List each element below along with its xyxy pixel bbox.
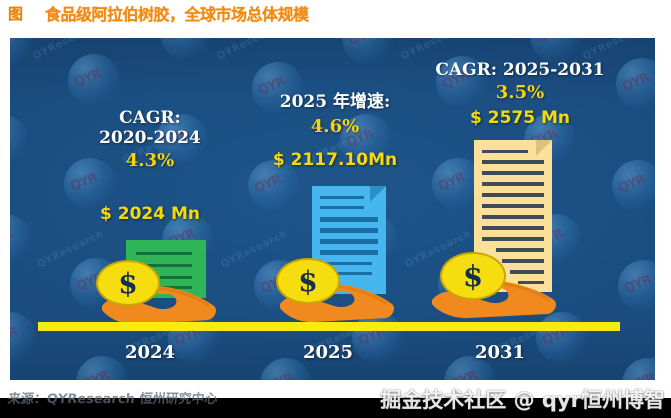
year-label-2024: 2024	[90, 342, 210, 363]
watermark-globe-icon	[612, 160, 655, 212]
year-label-2031: 2031	[440, 342, 560, 363]
coin-symbol: $	[463, 259, 483, 293]
amount-2025: $ 2117.10Mn	[250, 150, 420, 170]
cagr-block-2025: 2025 年增速: 4.6%	[255, 92, 415, 137]
baseline-bar	[38, 322, 620, 331]
amount-2024: $ 2024 Mn	[80, 204, 220, 224]
watermark-globe-icon	[10, 114, 28, 166]
watermark-globe-icon	[68, 54, 120, 106]
watermark-globe-icon	[616, 58, 655, 110]
watermark-globe-icon	[10, 214, 32, 266]
watermark-text: QYResearch	[581, 38, 651, 62]
cagr-value-2025: 4.6%	[255, 116, 415, 137]
watermark-text: QYResearch	[35, 229, 105, 271]
watermark-globe-icon	[10, 312, 36, 364]
hand-icon	[278, 186, 398, 330]
cagr-title-2024: CAGR:	[80, 108, 220, 128]
watermark-globe-icon	[10, 38, 34, 66]
hand-icon	[430, 140, 570, 330]
dollar-coin-icon: $	[276, 258, 340, 304]
figure-label: 图	[8, 3, 23, 24]
cagr-value-2031: 3.5%	[420, 82, 620, 103]
dollar-coin-icon: $	[96, 260, 160, 306]
document-blue-icon: $	[278, 186, 398, 330]
watermark-text: QYResearch	[399, 38, 469, 62]
cagr-period-2024: 2020-2024	[80, 128, 220, 148]
watermark-text: QYResearch	[215, 38, 285, 62]
money-note-icon: $	[100, 240, 220, 330]
watermark-globe-icon	[342, 38, 394, 64]
banner: 图 食品级阿拉伯树胶，全球市场总体规模	[0, 0, 671, 26]
banner-title: 食品级阿拉伯树胶，全球市场总体规模	[45, 1, 309, 25]
cagr-title-2025: 2025 年增速:	[255, 92, 415, 112]
cagr-title-2031: CAGR: 2025-2031	[420, 60, 620, 80]
cagr-value-2024: 4.3%	[80, 150, 220, 171]
year-label-2025: 2025	[268, 342, 388, 363]
coin-symbol: $	[298, 265, 317, 298]
watermark-globe-icon	[622, 358, 655, 380]
source-credit: 来源：QYResearch 恒州研究中心	[7, 388, 219, 407]
watermark-globe-icon	[618, 260, 655, 312]
cagr-block-2024: CAGR: 2020-2024 4.3%	[80, 108, 220, 171]
document-cream-icon: $	[430, 140, 570, 330]
watermark-globe-icon	[530, 38, 582, 62]
community-watermark: 掘金技术社区 @ qyr恒州博智	[380, 384, 665, 414]
cagr-block-2031: CAGR: 2025-2031 3.5%	[420, 60, 620, 103]
amount-block-2024: $ 2024 Mn	[80, 204, 220, 224]
dollar-coin-icon: $	[440, 252, 506, 300]
watermark-globe-icon	[160, 38, 212, 60]
amount-block-2031: $ 2575 Mn	[420, 108, 620, 128]
coin-symbol: $	[118, 267, 137, 300]
amount-2031: $ 2575 Mn	[420, 108, 620, 128]
infographic-stage: 图 食品级阿拉伯树胶，全球市场总体规模	[0, 0, 671, 418]
amount-block-2025: $ 2117.10Mn	[250, 150, 420, 170]
watermark-text: QYResearch	[31, 38, 101, 62]
